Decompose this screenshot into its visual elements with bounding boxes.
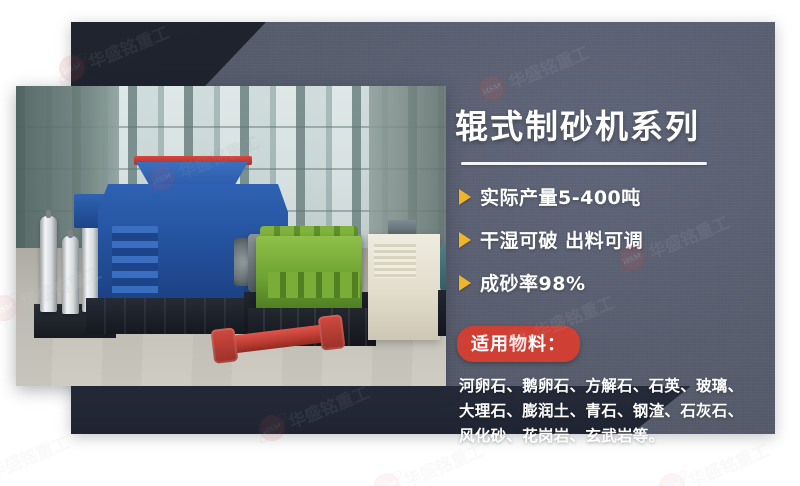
list-item: 实际产量5-400吨 — [459, 183, 765, 210]
title-divider — [461, 162, 707, 165]
promo-banner: 辊式制砂机系列 实际产量5-400吨 干湿可破 出料可调 成砂率98% 适用物料… — [0, 0, 800, 486]
content-column: 辊式制砂机系列 实际产量5-400吨 干湿可破 出料可调 成砂率98% 适用物料… — [455, 22, 765, 434]
feature-text: 干湿可破 出料可调 — [480, 226, 643, 253]
hsm-logo-icon: HSM — [655, 469, 689, 486]
arrow-bullet-icon — [459, 275, 471, 291]
coupling-flange — [318, 314, 346, 351]
crusher-frame-ribs — [112, 226, 158, 298]
arrow-bullet-icon — [459, 189, 471, 205]
watermark: HSM 华盛铭重工 — [0, 427, 72, 486]
materials-text: 河卵石、鹅卵石、方解石、石英、玻璃、大理石、膨润土、青石、钢渣、石灰石、风化砂、… — [459, 374, 749, 449]
feature-list: 实际产量5-400吨 干湿可破 出料可调 成砂率98% — [455, 183, 765, 296]
list-item: 成砂率98% — [459, 269, 765, 296]
coupling-flange — [210, 327, 238, 364]
cream-control-cabinet — [368, 234, 440, 340]
gearbox-ribs — [268, 272, 360, 298]
product-photo — [16, 86, 446, 386]
gas-cylinder — [62, 236, 79, 314]
watermark-brand: 华盛铭重工 — [0, 428, 72, 483]
arrow-bullet-icon — [459, 232, 471, 248]
teal-motor-base — [438, 290, 446, 336]
materials-badge: 适用物料： — [457, 326, 580, 362]
hsm-logo-icon: HSM — [370, 469, 404, 486]
coupling-shaft — [233, 324, 325, 353]
list-item: 干湿可破 出料可调 — [459, 226, 765, 253]
gas-cylinder — [40, 216, 57, 312]
teal-motor — [440, 244, 446, 292]
feature-text: 实际产量5-400吨 — [480, 183, 641, 210]
feature-text: 成砂率98% — [480, 269, 585, 296]
page-title: 辊式制砂机系列 — [455, 22, 765, 148]
